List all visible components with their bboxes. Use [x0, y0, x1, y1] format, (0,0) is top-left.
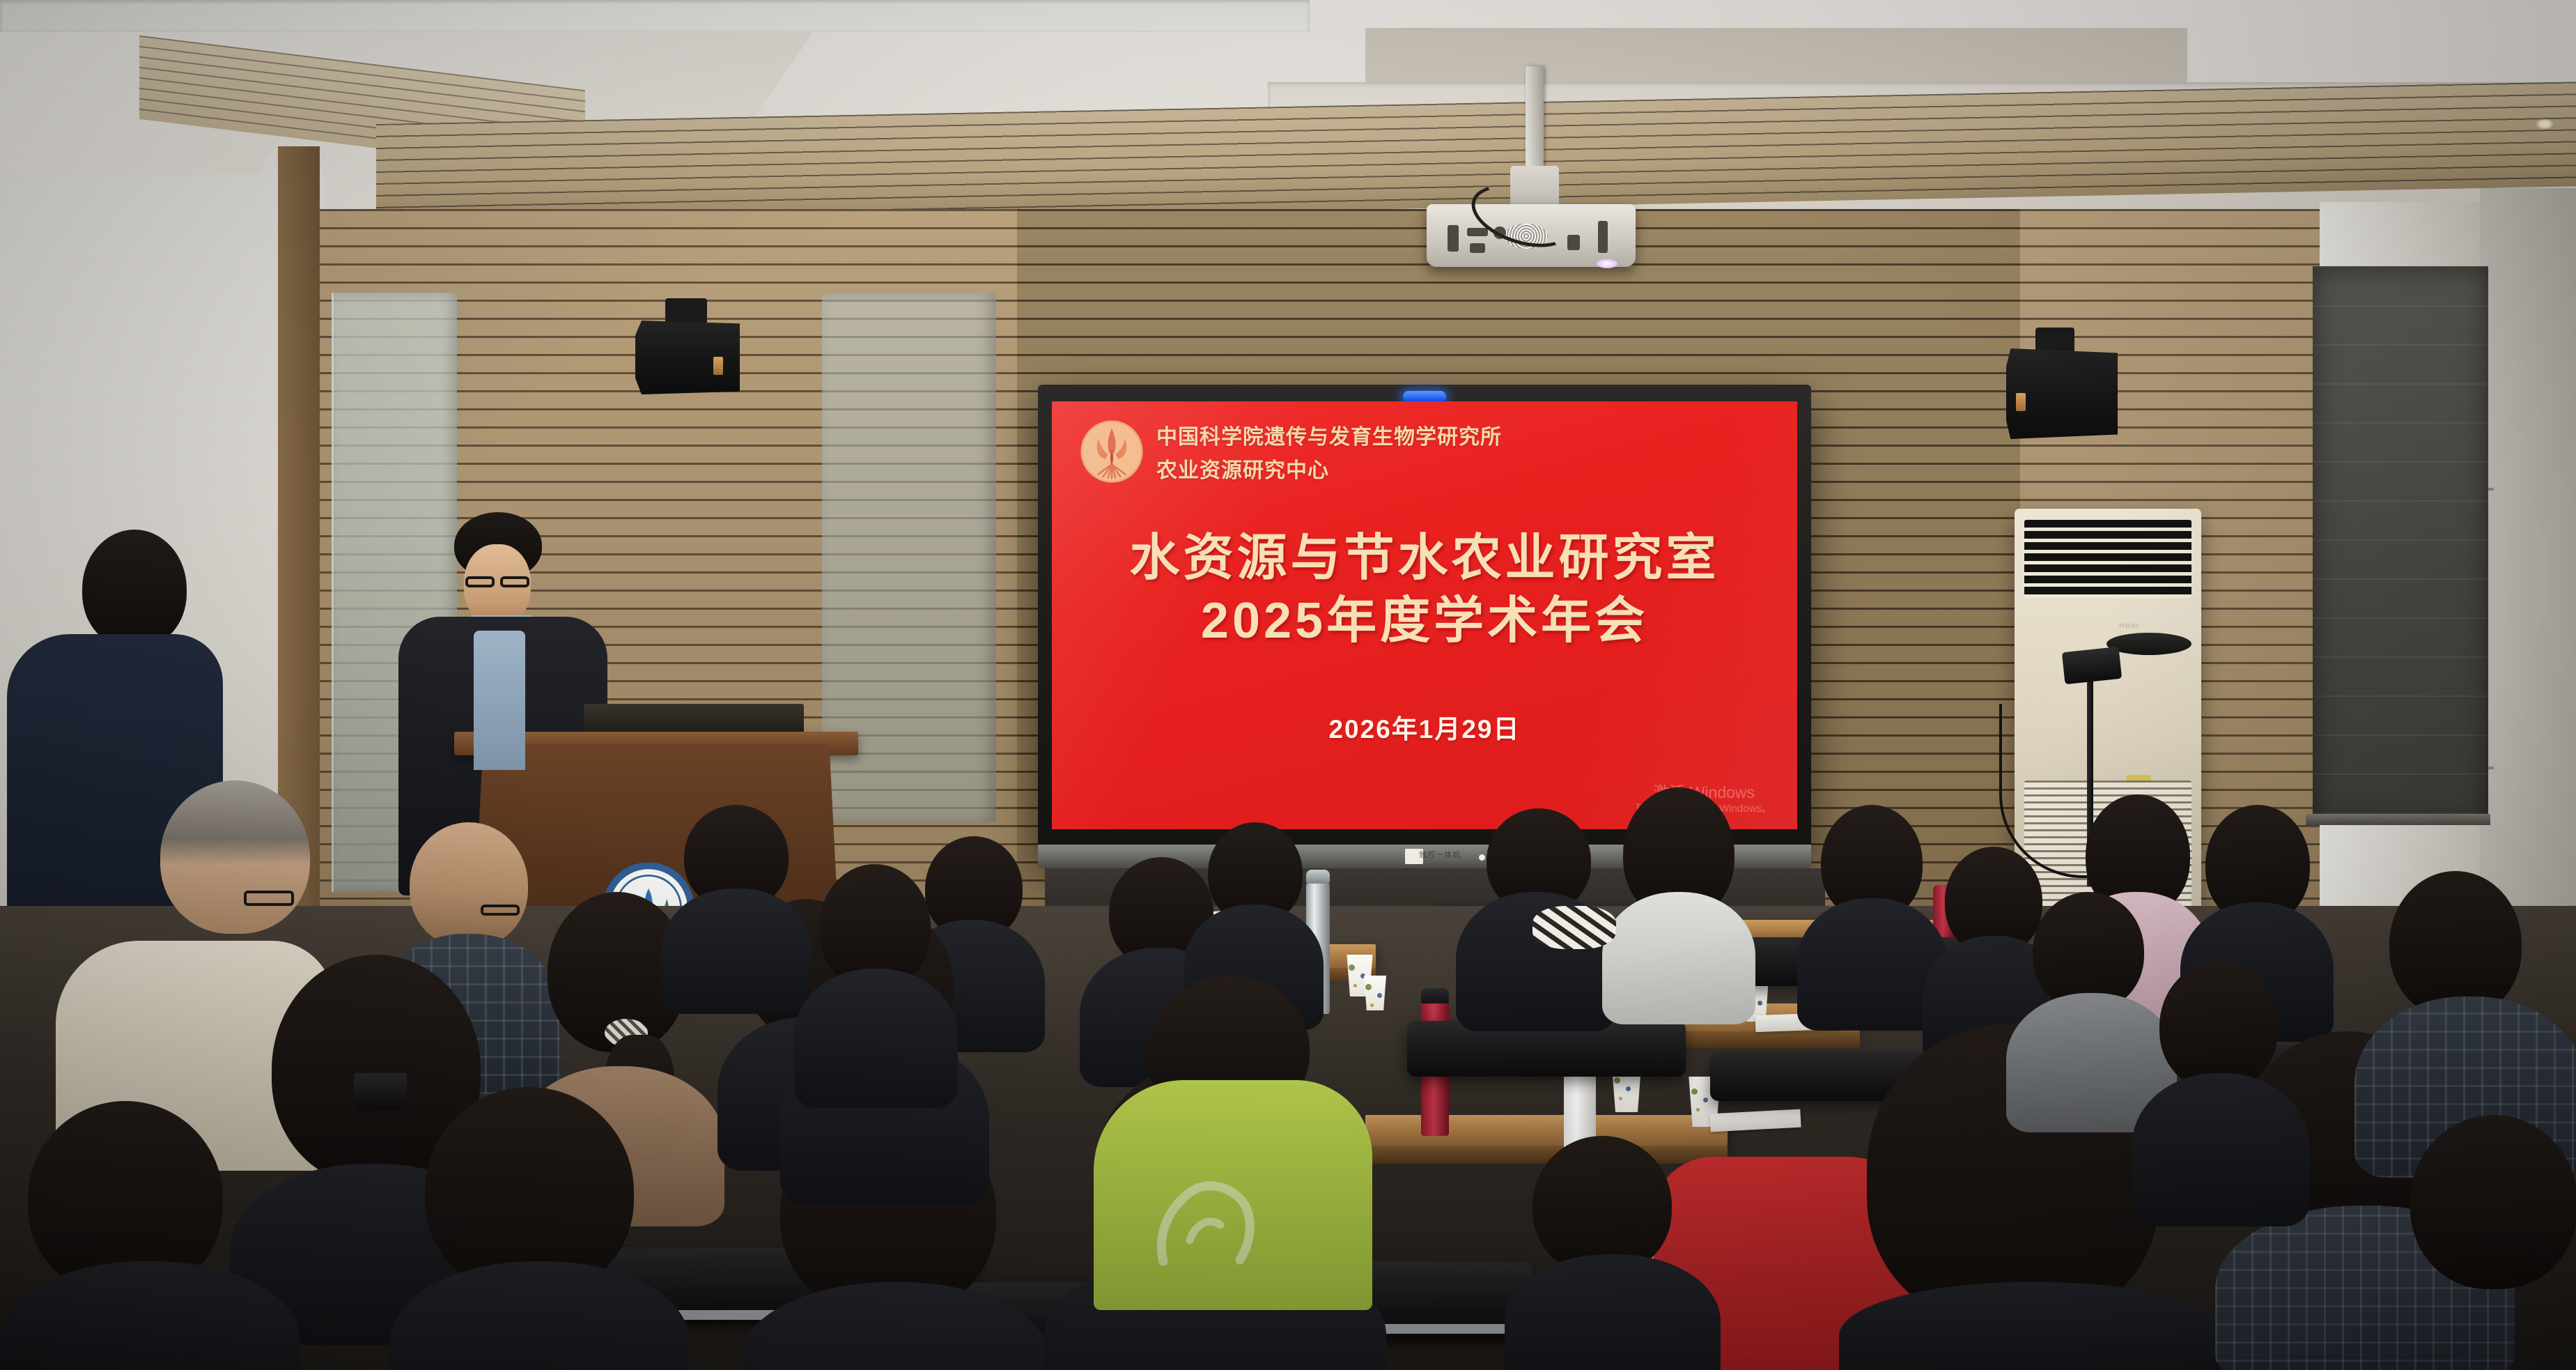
audience-back-1-scarf [1533, 906, 1616, 949]
display-chin-label: 触控一体机 [1419, 849, 1461, 860]
audience-front-glasses-icon [244, 891, 294, 906]
projector-port-2 [1467, 228, 1488, 236]
window-blind-rail [2306, 814, 2490, 825]
audience-mid-right-2-head [2159, 962, 2278, 1091]
audience-green-hoodie [1094, 976, 1372, 1310]
audience-back-2-body [1602, 892, 1755, 1024]
slide-title-line-2: 2025年度学术年会 [1052, 590, 1797, 652]
audience-mid-bald-glasses-icon [481, 905, 520, 916]
projector-port-4 [1470, 243, 1485, 253]
institute-logo-icon [1080, 420, 1144, 484]
audience-front-glasses-head [160, 780, 310, 934]
ceiling-beam-left [0, 0, 1310, 32]
display-screen: 中国科学院遗传与发育生物学研究所 农业资源研究中心 水资源与节水农业研究室 20… [1052, 401, 1797, 829]
audience-right-plaid-head [2389, 871, 2522, 1017]
audience-front-between-body [1505, 1254, 1721, 1370]
audience-front-between [1505, 1136, 1714, 1370]
slide-title-line-1: 水资源与节水农业研究室 [1052, 527, 1797, 590]
tripod-camera[interactable] [2062, 647, 2122, 684]
presenter-glasses-left-lens [465, 576, 495, 587]
slide-title-block: 水资源与节水农业研究室 2025年度学术年会 [1052, 527, 1797, 652]
thermos-red-cap[interactable] [1421, 988, 1449, 1003]
audience-foreground-right-body [1839, 1282, 2229, 1370]
window-blind-right[interactable] [2313, 266, 2488, 824]
audience-front-far-left-body [0, 1261, 300, 1370]
audience-green-hoodie-body [1094, 1080, 1372, 1310]
ac-display-panel[interactable] [2106, 633, 2191, 655]
audience-front-far-left [0, 1101, 293, 1370]
audience-mid-right-2 [2132, 962, 2306, 1192]
audience-back-2 [1595, 787, 1755, 1010]
audience-mid-bald-head [410, 822, 528, 948]
slide-date: 2026年1月29日 [1052, 708, 1797, 746]
audience-front-2 [390, 1087, 683, 1370]
speaker-left-badge [713, 357, 723, 375]
audience-front-5-body [794, 969, 958, 1108]
slide-institute-line-2: 农业资源研究中心 [1156, 453, 1502, 484]
hoodie-graphic-icon [1135, 1157, 1275, 1268]
slide-institution-header: 中国科学院遗传与发育生物学研究所 农业资源研究中心 [1080, 420, 1502, 484]
ceiling-downlight-5 [2536, 118, 2554, 130]
audience-mid-right-2-body [2132, 1073, 2309, 1226]
wall-speaker-right [2006, 348, 2118, 439]
presenter-glasses-right-lens [500, 576, 529, 587]
projector-port-5 [1567, 235, 1580, 250]
projector-port-6 [1598, 221, 1608, 253]
wall-speaker-left [635, 321, 740, 394]
ac-brand-label: Haier [2119, 622, 2139, 630]
standing-attendee-head [82, 530, 187, 648]
audience-front-5 [794, 864, 954, 1073]
ac-upper-grille [2024, 520, 2191, 598]
slide-institute-line-1: 中国科学院遗传与发育生物学研究所 [1156, 420, 1502, 450]
projector-status-light [1597, 259, 1617, 268]
audience-front-3-body [738, 1282, 1052, 1370]
conference-room-photo: 中国科学院遗传与发育生物学研究所 农业资源研究中心 水资源与节水农业研究室 20… [0, 0, 2576, 1370]
presenter-shirt-front [474, 631, 525, 770]
audience-corner-right-head [2410, 1115, 2576, 1289]
audience-front-2-body [390, 1261, 690, 1370]
projector-port-1 [1448, 225, 1459, 252]
audience-back-8 [1797, 805, 1943, 1007]
speaker-right-badge [2016, 393, 2026, 411]
audience-corner-right [2396, 1115, 2576, 1370]
